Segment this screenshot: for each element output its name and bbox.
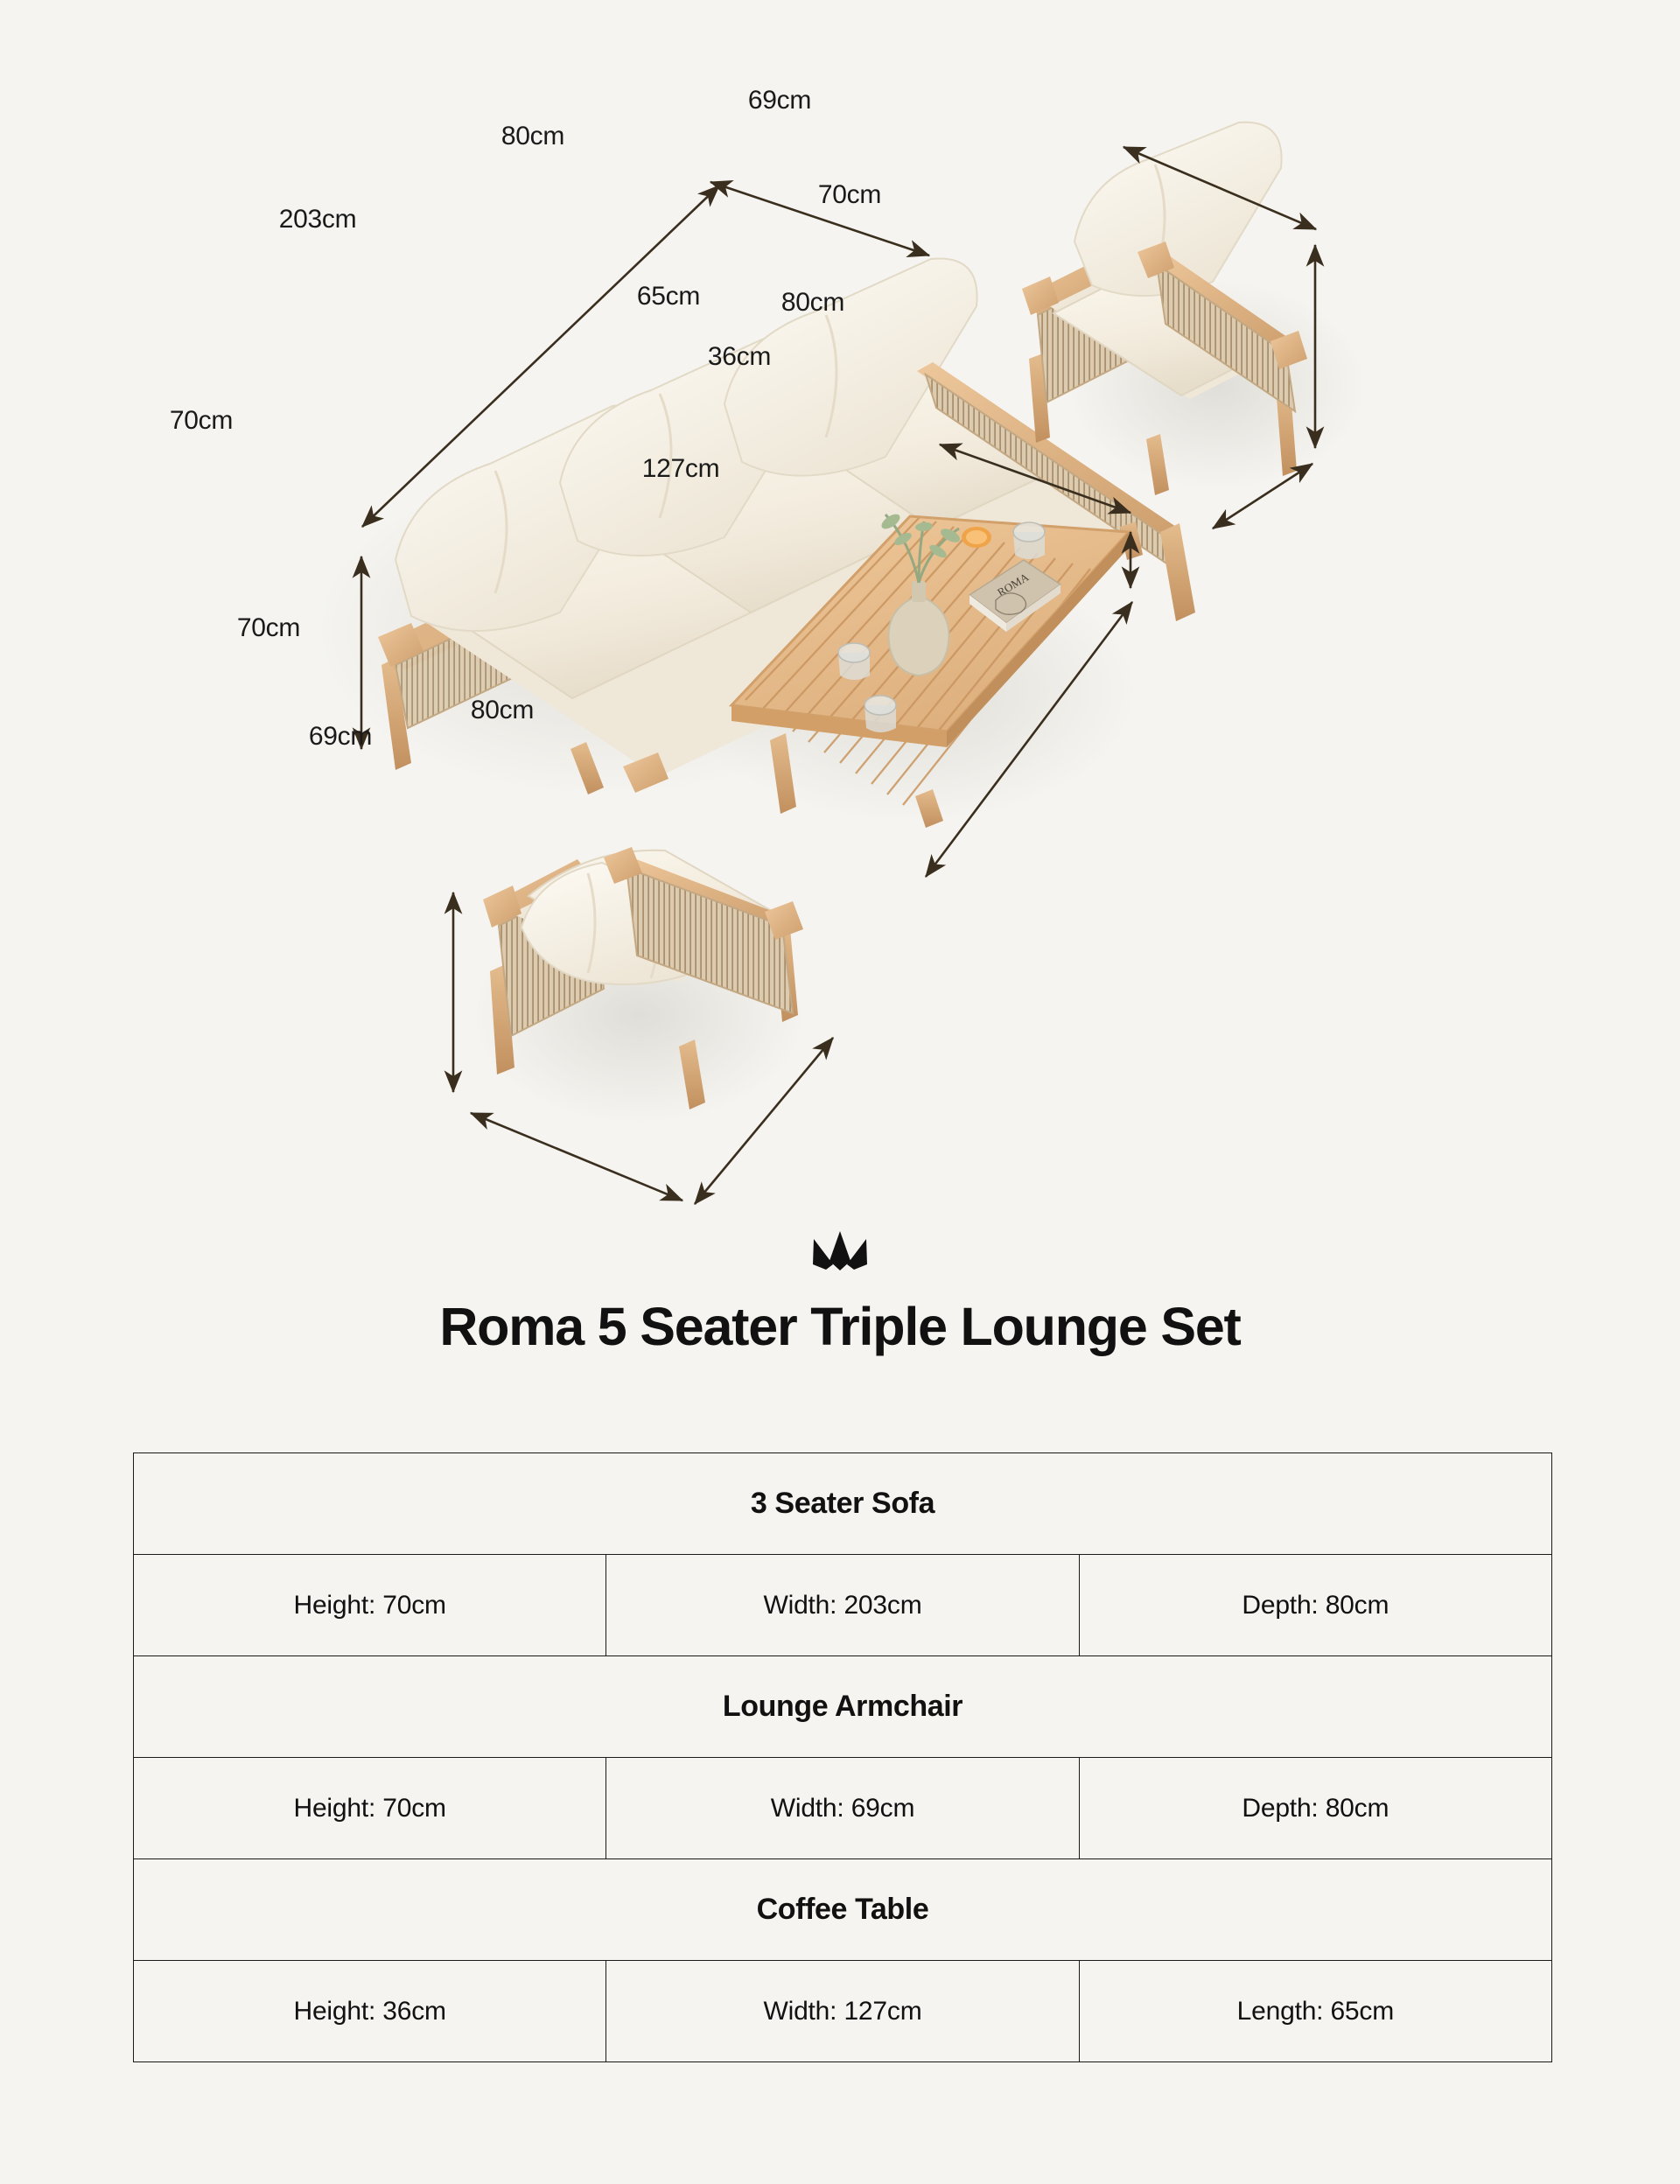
- armchair-width-cell: Width: 69cm: [606, 1758, 1079, 1859]
- armchair-height-cell: Height: 70cm: [134, 1758, 606, 1859]
- dim-label-armchair-top-height: 70cm: [818, 180, 881, 209]
- table-row: Height: 70cm Width: 69cm Depth: 80cm: [134, 1758, 1552, 1859]
- specifications-table-wrapper: 3 Seater Sofa Height: 70cm Width: 203cm …: [133, 1452, 1552, 2062]
- table-row: 3 Seater Sofa: [134, 1453, 1552, 1555]
- sofa-depth-cell: Depth: 80cm: [1079, 1555, 1551, 1656]
- coffee-table-length-cell: Length: 65cm: [1079, 1961, 1551, 2062]
- crown-icon: [811, 1229, 869, 1277]
- orange-slice-prop: [962, 527, 991, 548]
- brand-header: Roma 5 Seater Triple Lounge Set: [0, 1229, 1680, 1356]
- sofa-width-cell: Width: 203cm: [606, 1555, 1079, 1656]
- dim-line-armchair-bottom-width: [471, 1113, 682, 1200]
- table-row: Coffee Table: [134, 1859, 1552, 1961]
- armchair-depth-cell: Depth: 80cm: [1079, 1758, 1551, 1859]
- dim-label-table-width: 127cm: [642, 454, 720, 483]
- dim-label-armchair-bottom-depth: 80cm: [471, 696, 534, 724]
- dim-label-table-height: 36cm: [708, 342, 771, 371]
- specifications-table: 3 Seater Sofa Height: 70cm Width: 203cm …: [133, 1452, 1552, 2062]
- glass-prop: [864, 696, 896, 732]
- glass-prop: [1013, 522, 1045, 559]
- glass-prop: [838, 643, 870, 680]
- group-header-armchair: Lounge Armchair: [134, 1656, 1552, 1758]
- dim-label-armchair-top-width: 69cm: [748, 86, 811, 115]
- group-header-sofa: 3 Seater Sofa: [134, 1453, 1552, 1555]
- coffee-table-width-cell: Width: 127cm: [606, 1961, 1079, 2062]
- page-title: Roma 5 Seater Triple Lounge Set: [0, 1298, 1680, 1356]
- table-row: Height: 70cm Width: 203cm Depth: 80cm: [134, 1555, 1552, 1656]
- dim-label-sofa-depth: 80cm: [501, 122, 564, 150]
- sofa-height-cell: Height: 70cm: [134, 1555, 606, 1656]
- dim-label-armchair-bottom-width: 69cm: [309, 722, 372, 751]
- dim-label-armchair-bottom-height: 70cm: [237, 613, 300, 642]
- dimensions-diagram: ROMA: [0, 0, 1680, 1225]
- dim-label-armchair-top-depth: 80cm: [781, 288, 844, 317]
- dim-label-sofa-height: 70cm: [170, 406, 233, 435]
- group-header-coffee-table: Coffee Table: [134, 1859, 1552, 1961]
- furniture-illustration: ROMA: [0, 0, 1680, 1225]
- table-row: Lounge Armchair: [134, 1656, 1552, 1758]
- dim-label-table-length: 65cm: [637, 282, 700, 311]
- dim-label-sofa-width: 203cm: [279, 205, 357, 234]
- table-row: Height: 36cm Width: 127cm Length: 65cm: [134, 1961, 1552, 2062]
- coffee-table-height-cell: Height: 36cm: [134, 1961, 606, 2062]
